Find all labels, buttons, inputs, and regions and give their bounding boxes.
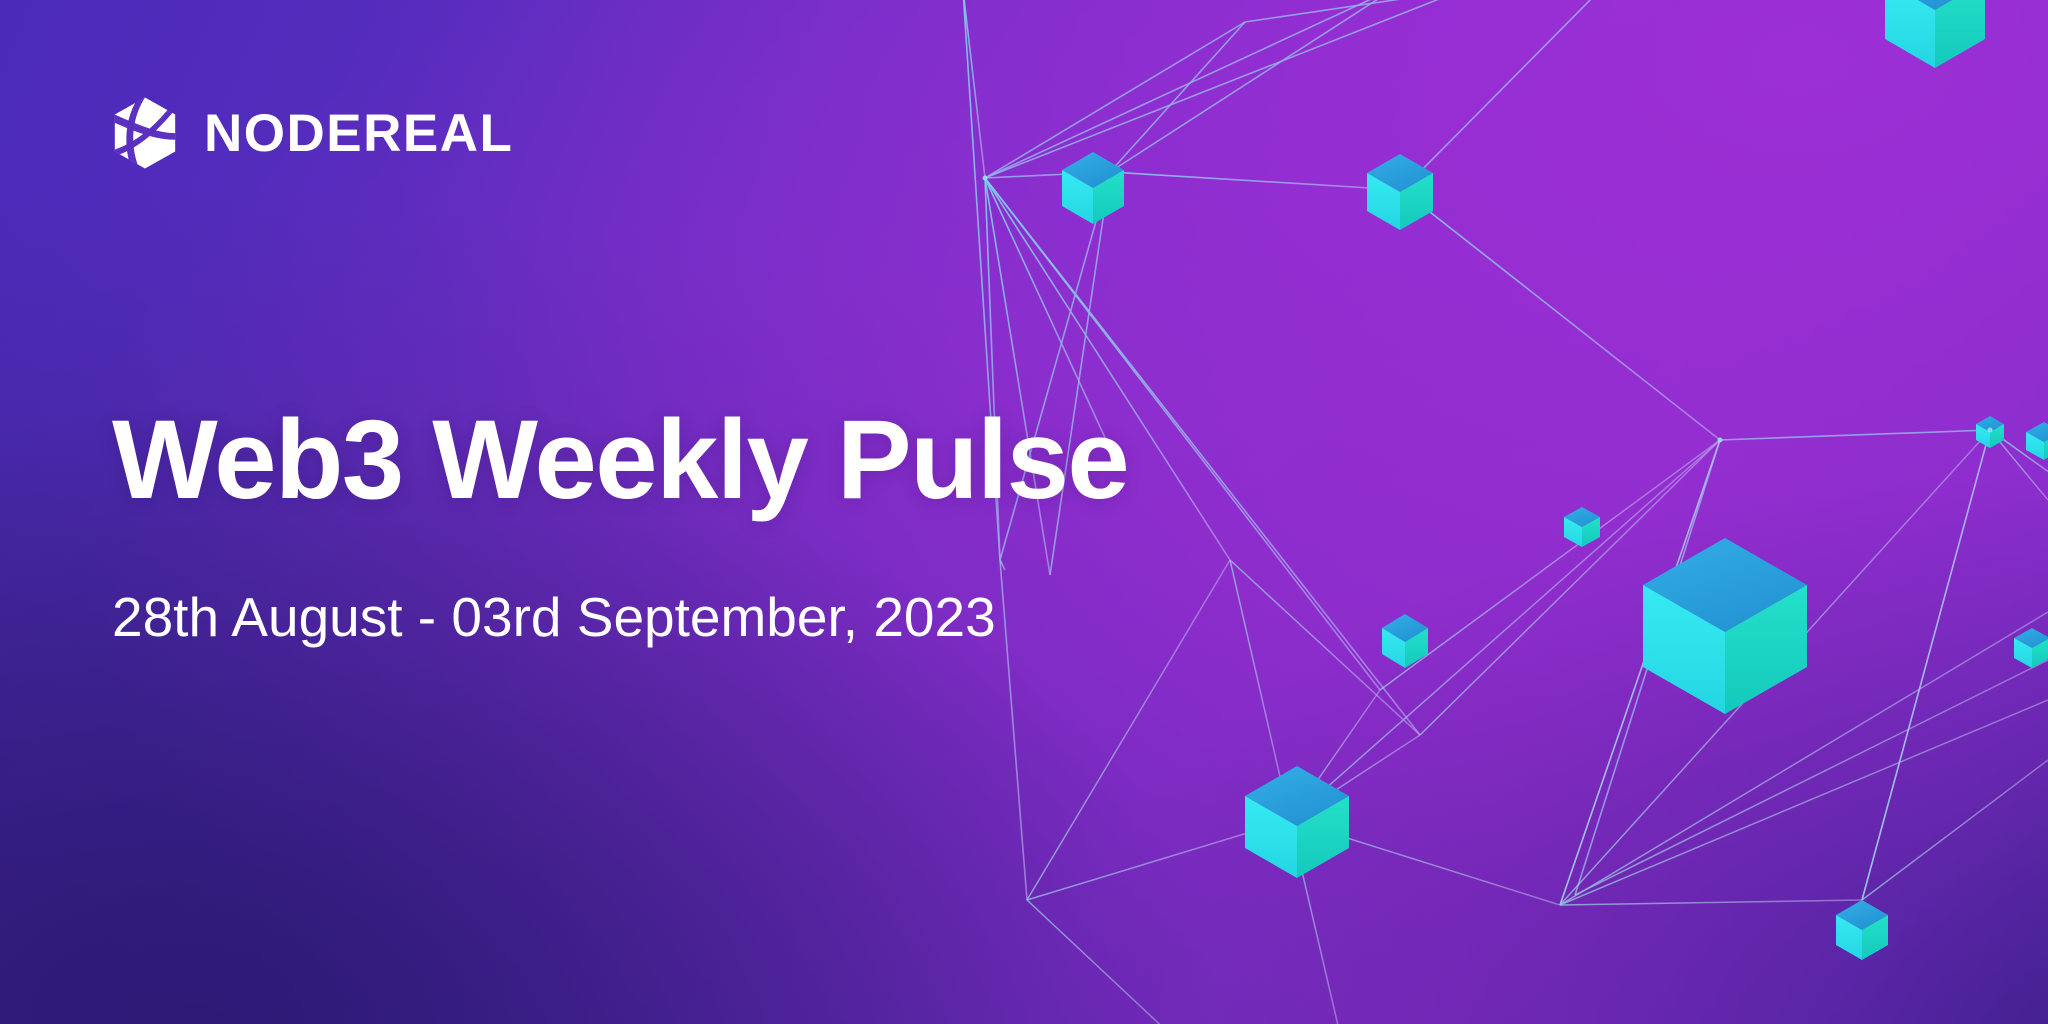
cube-icon <box>2026 422 2048 460</box>
web3-weekly-pulse-banner: NODEREAL Web3 Weekly Pulse 28th August -… <box>0 0 2048 1024</box>
cube-icon <box>1885 0 1985 68</box>
brand-name: NODEREAL <box>204 107 513 160</box>
brand-logo[interactable]: NODEREAL <box>112 96 513 170</box>
nodereal-hexagon-logo-icon <box>112 96 178 170</box>
hero-content: NODEREAL Web3 Weekly Pulse 28th August -… <box>112 0 1612 1024</box>
page-title: Web3 Weekly Pulse <box>112 400 1128 521</box>
cube-icon <box>1836 900 1888 960</box>
cube-icon <box>1643 538 1807 714</box>
date-range: 28th August - 03rd September, 2023 <box>112 584 996 650</box>
